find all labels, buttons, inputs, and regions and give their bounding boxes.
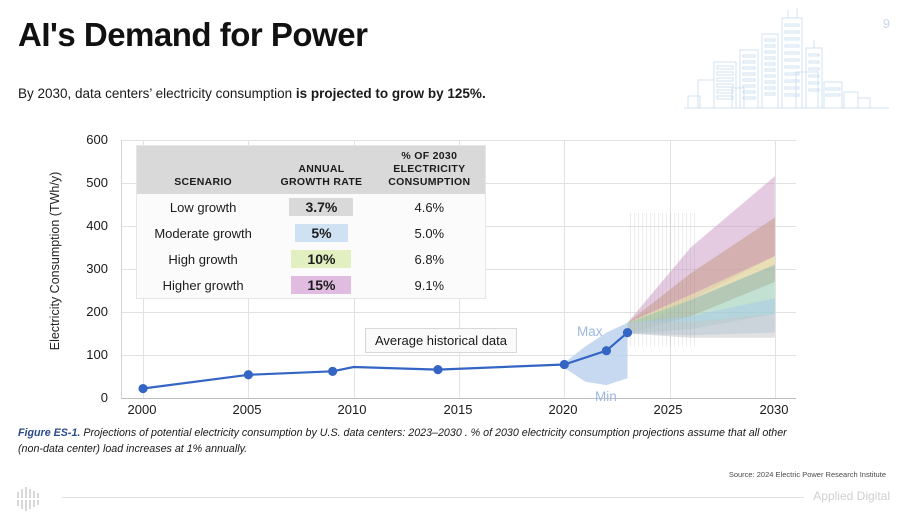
data-point <box>623 328 632 337</box>
x-tick-2005: 2005 <box>217 402 277 417</box>
col-header-scenario: SCENARIO <box>137 146 269 194</box>
y-tick-0: 0 <box>64 390 108 405</box>
subtitle-plain: By 2030, data centers’ electricity consu… <box>18 86 296 101</box>
col-header-share: % OF 2030 ELECTRICITY CONSUMPTION <box>374 146 485 194</box>
table-row: Moderate growth5%5.0% <box>137 220 485 246</box>
projection-stripe-overlay <box>628 213 698 346</box>
cell-growth-rate: 3.7% <box>269 194 373 220</box>
cell-share: 5.0% <box>374 220 485 246</box>
footer-divider <box>62 497 804 498</box>
x-tick-2015: 2015 <box>428 402 488 417</box>
cell-growth-rate: 15% <box>269 272 373 298</box>
figure-caption-text: Projections of potential electricity con… <box>18 427 787 455</box>
col-header-share-l3: CONSUMPTION <box>376 176 483 189</box>
y-tick-200: 200 <box>64 304 108 319</box>
cell-scenario: Moderate growth <box>137 220 269 246</box>
growth-rate-swatch: 5% <box>295 224 347 242</box>
subtitle: By 2030, data centers’ electricity consu… <box>18 86 486 101</box>
y-tick-400: 400 <box>64 218 108 233</box>
y-axis-label: Electricity Consumption (TWh/y) <box>48 146 62 376</box>
scenario-table: SCENARIO ANNUAL GROWTH RATE % OF 2030 EL… <box>136 145 486 299</box>
city-skyline-icon <box>684 4 894 116</box>
data-point <box>328 367 337 376</box>
data-point <box>433 365 442 374</box>
x-tick-2030: 2030 <box>744 402 804 417</box>
table-head: SCENARIO ANNUAL GROWTH RATE % OF 2030 EL… <box>137 146 485 194</box>
x-tick-2010: 2010 <box>322 402 382 417</box>
col-header-share-l2: ELECTRICITY <box>376 163 483 176</box>
cell-growth-rate: 10% <box>269 246 373 272</box>
figure-caption: Figure ES-1. Projections of potential el… <box>18 425 808 457</box>
max-label: Max <box>577 324 603 339</box>
cell-share: 9.1% <box>374 272 485 298</box>
y-tick-500: 500 <box>64 175 108 190</box>
cell-scenario: High growth <box>137 246 269 272</box>
brand-name: Applied Digital <box>813 489 890 503</box>
cell-share: 6.8% <box>374 246 485 272</box>
subtitle-emphasis: is projected to grow by 125%. <box>296 86 486 101</box>
cell-scenario: Higher growth <box>137 272 269 298</box>
x-tick-2020: 2020 <box>533 402 593 417</box>
table-body: Low growth3.7%4.6%Moderate growth5%5.0%H… <box>137 194 485 298</box>
y-tick-100: 100 <box>64 347 108 362</box>
x-tick-2025: 2025 <box>638 402 698 417</box>
growth-rate-swatch: 10% <box>291 250 351 268</box>
y-tick-600: 600 <box>64 132 108 147</box>
average-historical-data-callout: Average historical data <box>365 328 517 353</box>
col-header-growth-rate: ANNUAL GROWTH RATE <box>269 146 373 194</box>
x-tick-2000: 2000 <box>112 402 172 417</box>
page-title: AI's Demand for Power <box>18 16 367 54</box>
data-point <box>244 370 253 379</box>
col-header-scenario-l1: SCENARIO <box>139 176 267 189</box>
data-point <box>560 360 569 369</box>
slide-root: 9 <box>0 0 904 522</box>
table-row: High growth10%6.8% <box>137 246 485 272</box>
growth-rate-swatch: 3.7% <box>289 198 353 216</box>
data-point <box>602 346 611 355</box>
data-point <box>138 384 147 393</box>
min-label: Min <box>595 389 617 404</box>
table-row: Higher growth15%9.1% <box>137 272 485 298</box>
col-header-share-l1: % OF 2030 <box>376 150 483 163</box>
growth-rate-swatch: 15% <box>291 276 351 294</box>
source-credit: Source: 2024 Electric Power Research Ins… <box>729 470 886 479</box>
col-header-growth-rate-l2: GROWTH RATE <box>271 176 371 189</box>
cell-scenario: Low growth <box>137 194 269 220</box>
table-header-row: SCENARIO ANNUAL GROWTH RATE % OF 2030 EL… <box>137 146 485 194</box>
applied-digital-bars-icon <box>12 486 46 512</box>
figure-caption-label: Figure ES-1. <box>18 427 80 439</box>
table-row: Low growth3.7%4.6% <box>137 194 485 220</box>
y-tick-300: 300 <box>64 261 108 276</box>
col-header-growth-rate-l1: ANNUAL <box>271 163 371 176</box>
cell-share: 4.6% <box>374 194 485 220</box>
cell-growth-rate: 5% <box>269 220 373 246</box>
